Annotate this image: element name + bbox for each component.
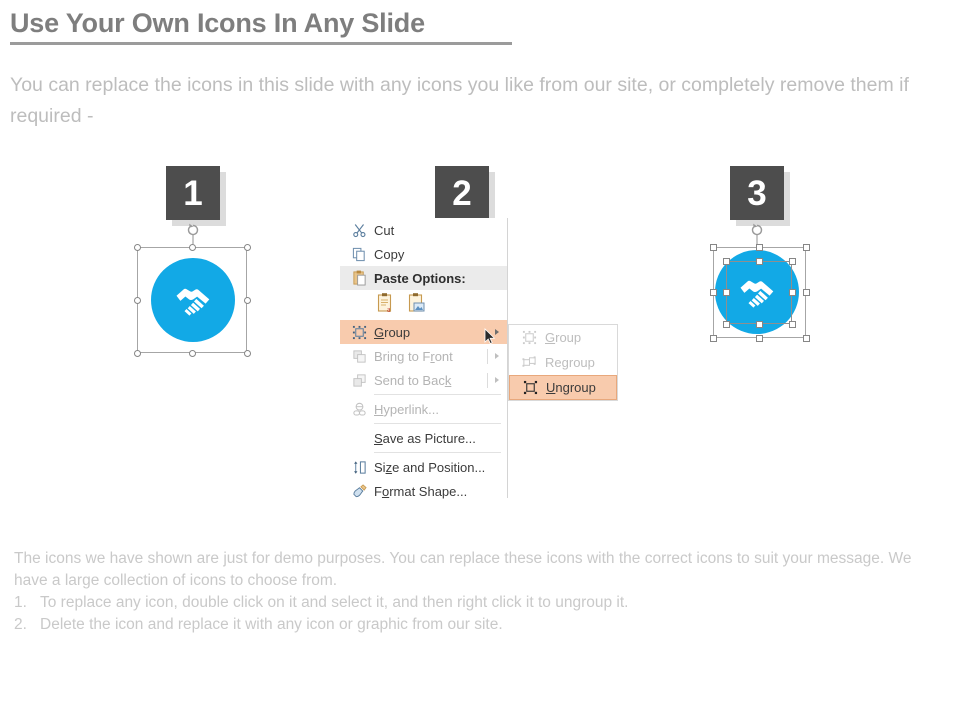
menu-label-group: Group — [374, 325, 495, 340]
menu-item-cut[interactable]: Cut — [340, 218, 507, 242]
menu-label-size-and-position: Size and Position... — [374, 460, 507, 475]
menu-item-size-and-position[interactable]: Size and Position... — [340, 455, 507, 479]
handshake-icon-1[interactable] — [151, 258, 235, 342]
regroup-icon — [513, 355, 545, 370]
handle-se[interactable] — [803, 335, 810, 342]
footer-list-item-1: 1. To replace any icon, double click on … — [14, 592, 944, 614]
page-subtitle: You can replace the icons in this slide … — [10, 70, 955, 132]
bring-to-front-icon — [344, 349, 374, 364]
submenu-label-ungroup: Ungroup — [546, 380, 596, 395]
title-underline — [10, 42, 512, 45]
inner-handle-n[interactable] — [756, 258, 763, 265]
chevron-right-icon — [495, 353, 499, 359]
ungroup-icon — [514, 380, 546, 395]
menu-label-save-as-picture: Save as Picture... — [374, 431, 507, 446]
size-position-icon — [344, 460, 374, 475]
inner-handle-w[interactable] — [723, 289, 730, 296]
group-icon — [344, 325, 374, 340]
list-number: 2. — [14, 614, 40, 636]
paste-icon — [344, 270, 374, 286]
submenu-item-group: Group — [509, 325, 617, 350]
mouse-cursor — [484, 328, 496, 351]
handle-w[interactable] — [710, 289, 717, 296]
handshake-glyph — [169, 276, 217, 324]
menu-split-bar — [487, 373, 488, 388]
menu-item-format-shape[interactable]: Format Shape... — [340, 479, 507, 503]
selection-frame-3-inner — [726, 261, 792, 324]
handle-w[interactable] — [134, 297, 141, 304]
menu-separator — [374, 423, 501, 424]
handle-e[interactable] — [244, 297, 251, 304]
handle-sw[interactable] — [710, 335, 717, 342]
format-shape-icon — [344, 484, 374, 499]
menu-item-hyperlink: Hyperlink... — [340, 397, 507, 421]
menu-item-paste-options: Paste Options: — [340, 266, 507, 290]
inner-handle-nw[interactable] — [723, 258, 730, 265]
submenu-label-regroup: Regroup — [545, 355, 595, 370]
submenu-item-ungroup[interactable]: Ungroup — [509, 375, 617, 400]
menu-label-format-shape: Format Shape... — [374, 484, 507, 499]
svg-text:a: a — [387, 305, 391, 314]
handle-s[interactable] — [189, 350, 196, 357]
menu-label-paste-options: Paste Options: — [374, 271, 507, 286]
inner-handle-e[interactable] — [789, 289, 796, 296]
list-number: 1. — [14, 592, 40, 614]
slide-canvas: Use Your Own Icons In Any Slide You can … — [0, 0, 960, 720]
menu-item-bring-to-front: Bring to Front — [340, 344, 507, 368]
handle-se[interactable] — [244, 350, 251, 357]
inner-handle-ne[interactable] — [789, 258, 796, 265]
footer-paragraph: The icons we have shown are just for dem… — [14, 548, 944, 592]
badge-1: 1 — [166, 166, 220, 220]
scissors-icon — [344, 223, 374, 238]
inner-handle-sw[interactable] — [723, 321, 730, 328]
menu-label-hyperlink: Hyperlink... — [374, 402, 507, 417]
menu-label-send-to-back: Send to Back — [374, 373, 487, 388]
handle-e[interactable] — [803, 289, 810, 296]
copy-icon — [344, 247, 374, 262]
picture-icon[interactable] — [407, 292, 427, 319]
handle-n[interactable] — [189, 244, 196, 251]
list-text: To replace any icon, double click on it … — [40, 592, 628, 614]
handle-s[interactable] — [756, 335, 763, 342]
inner-handle-se[interactable] — [789, 321, 796, 328]
hyperlink-icon — [344, 402, 374, 417]
context-menu[interactable]: Cut Copy Paste Options: — [340, 218, 508, 498]
handle-ne[interactable] — [803, 244, 810, 251]
group-icon — [513, 330, 545, 345]
footer-note: The icons we have shown are just for dem… — [14, 548, 944, 636]
list-text: Delete the icon and replace it with any … — [40, 614, 503, 636]
menu-item-save-as-picture[interactable]: Save as Picture... — [340, 426, 507, 450]
menu-item-send-to-back: Send to Back — [340, 368, 507, 392]
badge-3: 3 — [730, 166, 784, 220]
badge-2: 2 — [435, 166, 489, 220]
handle-sw[interactable] — [134, 350, 141, 357]
menu-label-cut: Cut — [374, 223, 507, 238]
handle-nw[interactable] — [134, 244, 141, 251]
page-title: Use Your Own Icons In Any Slide — [10, 8, 530, 39]
menu-item-group[interactable]: Group — [340, 320, 507, 344]
handle-nw[interactable] — [710, 244, 717, 251]
menu-label-copy: Copy — [374, 247, 507, 262]
submenu-item-regroup: Regroup — [509, 350, 617, 375]
inner-handle-s[interactable] — [756, 321, 763, 328]
paste-options-buttons[interactable]: a — [340, 290, 507, 320]
footer-list-item-2: 2. Delete the icon and replace it with a… — [14, 614, 944, 636]
group-submenu[interactable]: Group Regroup Ungroup — [508, 324, 618, 401]
handle-ne[interactable] — [244, 244, 251, 251]
menu-label-bring-to-front: Bring to Front — [374, 349, 487, 364]
menu-item-copy[interactable]: Copy — [340, 242, 507, 266]
handle-n[interactable] — [756, 244, 763, 251]
submenu-label-group: Group — [545, 330, 581, 345]
send-to-back-icon — [344, 373, 374, 388]
menu-separator — [374, 452, 501, 453]
keep-source-formatting-icon[interactable]: a — [376, 292, 396, 319]
chevron-right-icon — [495, 377, 499, 383]
menu-separator — [374, 394, 501, 395]
